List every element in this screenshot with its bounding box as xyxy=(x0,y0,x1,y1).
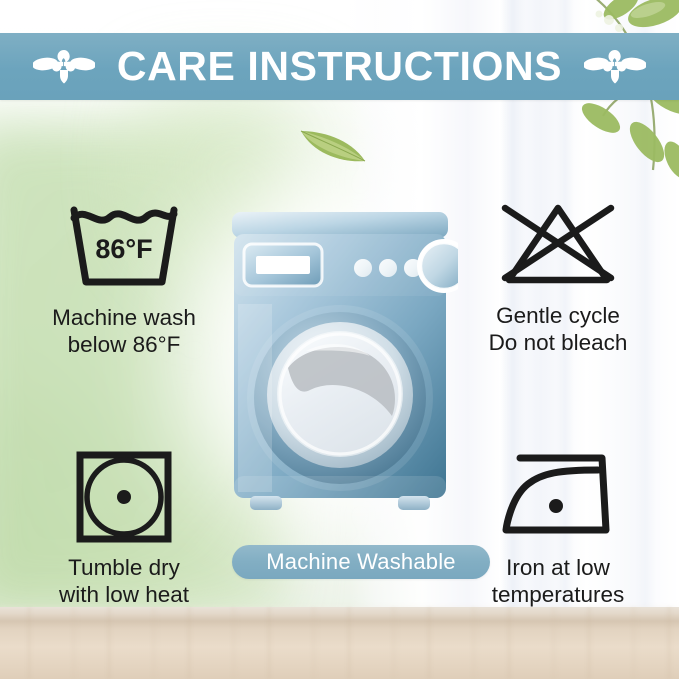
iron-icon xyxy=(494,446,622,546)
care-label-tumble-dry: Tumble drywith low heat xyxy=(59,554,189,609)
wash-temperature-value: 86°F xyxy=(95,234,152,264)
header-banner: CARE INSTRUCTIONS xyxy=(0,33,679,100)
care-label-do-not-bleach: Gentle cycleDo not bleach xyxy=(489,302,628,357)
page-title: CARE INSTRUCTIONS xyxy=(117,46,562,87)
machine-door xyxy=(247,305,433,491)
care-item-iron: Iron at lowtemperatures xyxy=(448,446,668,609)
fleur-de-lis-icon-right xyxy=(584,42,646,91)
floating-leaf-icon xyxy=(296,122,370,171)
fleur-de-lis-icon-left xyxy=(33,42,95,91)
machine-washable-badge: Machine Washable xyxy=(232,545,490,579)
care-label-iron: Iron at lowtemperatures xyxy=(492,554,625,609)
machine-indicator-buttons xyxy=(354,259,422,277)
tumble-dry-icon xyxy=(72,446,176,546)
care-item-do-not-bleach: Gentle cycleDo not bleach xyxy=(448,194,668,357)
detergent-drawer xyxy=(244,244,322,286)
care-item-machine-wash: 86°F Machine washbelow 86°F xyxy=(14,196,234,359)
wooden-table-grain xyxy=(0,607,679,679)
wash-tub-icon: 86°F xyxy=(60,196,188,296)
machine-washable-badge-label: Machine Washable xyxy=(266,551,455,573)
washing-machine-illustration xyxy=(222,208,458,539)
care-instructions-infographic: CARE INSTRUCTIONS xyxy=(0,0,679,679)
care-label-machine-wash: Machine washbelow 86°F xyxy=(52,304,196,359)
crossed-triangle-icon xyxy=(493,194,623,294)
care-item-tumble-dry: Tumble drywith low heat xyxy=(14,446,234,609)
machine-feet xyxy=(250,496,430,510)
